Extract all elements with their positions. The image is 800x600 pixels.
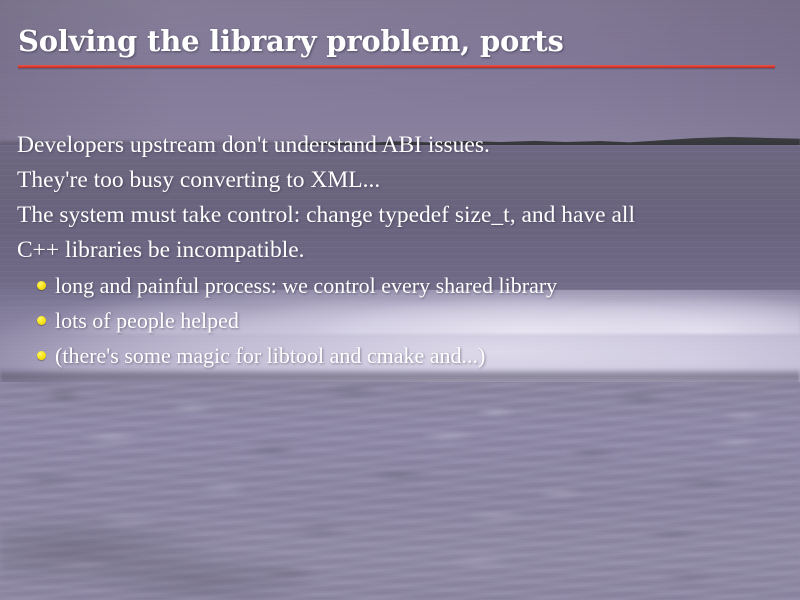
body-line: Developers upstream don't understand ABI… bbox=[17, 128, 787, 163]
list-item: (there's some magic for libtool and cmak… bbox=[37, 338, 777, 373]
list-item-label: (there's some magic for libtool and cmak… bbox=[55, 343, 485, 368]
bullet-list: long and painful process: we control eve… bbox=[37, 268, 777, 373]
slide-content: Solving the library problem, ports Devel… bbox=[0, 0, 800, 600]
body-paragraph: Developers upstream don't understand ABI… bbox=[17, 128, 787, 268]
body-line: They're too busy converting to XML... bbox=[17, 163, 787, 198]
body-line: The system must take control: change typ… bbox=[17, 198, 787, 233]
title-underline-rule bbox=[18, 65, 775, 68]
body-line: C++ libraries be incompatible. bbox=[17, 233, 787, 268]
bullet-dot-icon bbox=[37, 351, 46, 360]
slide-title: Solving the library problem, ports bbox=[18, 24, 564, 58]
list-item: lots of people helped bbox=[37, 303, 777, 338]
list-item-label: long and painful process: we control eve… bbox=[55, 273, 557, 298]
list-item-label: lots of people helped bbox=[55, 308, 239, 333]
bullet-dot-icon bbox=[37, 281, 46, 290]
list-item: long and painful process: we control eve… bbox=[37, 268, 777, 303]
bullet-dot-icon bbox=[37, 316, 46, 325]
presentation-slide: Solving the library problem, ports Devel… bbox=[0, 0, 800, 600]
